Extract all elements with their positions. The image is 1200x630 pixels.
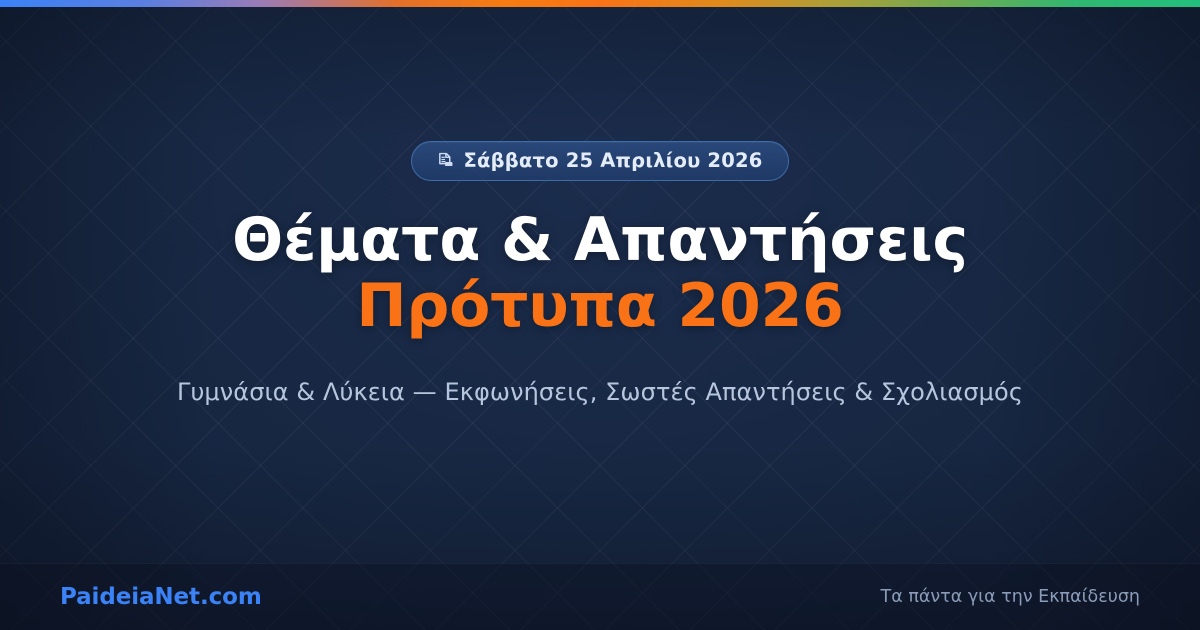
document-report-icon (437, 152, 454, 169)
og-card: Σάββατο 25 Απριλίου 2026 Θέματα & Απαντή… (0, 0, 1200, 630)
hero-section: Σάββατο 25 Απριλίου 2026 Θέματα & Απαντή… (0, 0, 1200, 563)
brand-logo-text: PaideiaNet.com (60, 584, 262, 610)
page-title: Θέματα & Απαντήσεις (232, 209, 968, 271)
page-subtitle-accent: Πρότυπα 2026 (356, 275, 843, 339)
hero-tagline: Γυμνάσια & Λύκεια — Εκφωνήσεις, Σωστές Α… (177, 377, 1023, 408)
footer-bar: PaideiaNet.com Τα πάντα για την Εκπαίδευ… (0, 563, 1200, 630)
date-badge-label: Σάββατο 25 Απριλίου 2026 (463, 149, 762, 172)
date-badge: Σάββατο 25 Απριλίου 2026 (411, 141, 788, 181)
footer-note: Τα πάντα για την Εκπαίδευση (881, 587, 1140, 607)
